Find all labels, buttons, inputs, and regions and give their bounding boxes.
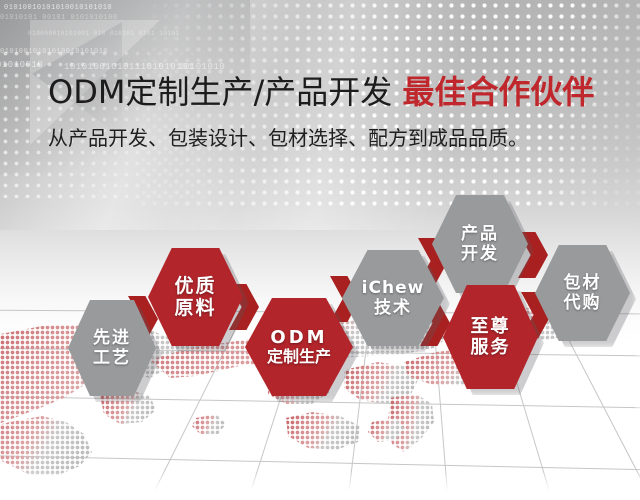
flow-step-line1: 至尊 xyxy=(471,316,511,337)
flow-step-line2: 服务 xyxy=(471,337,511,358)
flow-step-line1: 先进 xyxy=(93,328,131,348)
flow-step-line2: 原料 xyxy=(174,297,216,319)
flow-step-line1: iChew xyxy=(362,278,425,298)
flow-step-line1: 产品 xyxy=(461,224,499,244)
flow-step-line2: 技术 xyxy=(374,298,412,318)
flow-step-line2: 工艺 xyxy=(93,348,131,368)
flow-step-line1: 包材 xyxy=(564,273,602,293)
flow-step-line2: 开发 xyxy=(461,244,499,264)
process-flow: 先进 工艺 优质 原料 ODM 定制生产 iChew 技术 产品 开发 至尊 服… xyxy=(0,0,640,500)
flow-step-line1: ODM xyxy=(270,327,327,348)
flow-step-line2: 代购 xyxy=(564,293,602,313)
flow-step-line2: 定制生产 xyxy=(267,348,331,367)
flow-step-line1: 优质 xyxy=(174,275,216,297)
banner-image: 01010010101010010101010 01010101 00101 0… xyxy=(0,0,640,500)
